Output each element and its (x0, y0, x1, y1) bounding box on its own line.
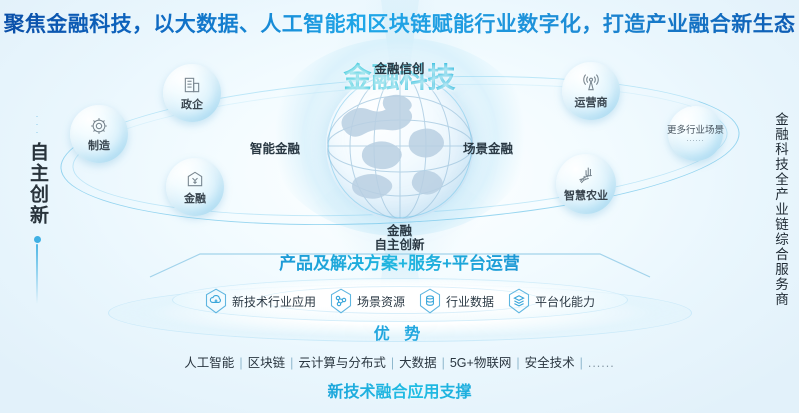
globe-label-left: 智能金融 (250, 138, 300, 157)
capability-item-new-tech-application[interactable]: 新技术行业应用 (204, 288, 316, 314)
node-label: 更多行业场景 (667, 125, 724, 136)
advantage-label: 优 势 (0, 320, 799, 344)
tech-item: 大数据 (399, 356, 437, 370)
node-bubble-manufacturing[interactable]: 制造 (70, 105, 128, 163)
globe-label-top: 金融信创 (0, 58, 799, 77)
network-hex-icon (329, 288, 353, 314)
dot: · (20, 128, 54, 136)
capability-label: 平台化能力 (535, 293, 595, 310)
decorative-dots: · · · (20, 112, 54, 136)
separator: | (442, 356, 445, 370)
node-label: 制造 (88, 137, 110, 153)
tech-item: 人工智能 (184, 356, 234, 370)
building-icon (182, 75, 202, 95)
tech-item: 云计算与分布式 (298, 356, 386, 370)
tech-list: 人工智能|区块链|云计算与分布式|大数据|5G+物联网|安全技术|...... (0, 352, 799, 371)
node-label: 运营商 (575, 94, 608, 110)
node-label: 金融 (184, 190, 206, 206)
agriculture-icon (576, 165, 597, 186)
node-label: 政企 (181, 96, 203, 112)
bottom-title: 新技术融合应用支撑 (0, 378, 799, 402)
capability-item-industry-data[interactable]: 行业数据 (418, 288, 494, 314)
globe-label-right: 场景金融 (463, 138, 513, 157)
left-vertical-text: 自主创新 (20, 142, 54, 232)
capability-label: 场景资源 (357, 293, 405, 310)
bank-icon (185, 169, 205, 189)
capability-item-platform-capability[interactable]: 平台化能力 (507, 288, 595, 314)
right-vertical-text: 金融科技全产业链综合服务商 (759, 112, 789, 307)
page-title: 聚焦金融科技，以大数据、人工智能和区块链赋能行业数字化，打造产业融合新生态 (0, 8, 799, 38)
separator: | (239, 356, 242, 370)
node-label: 智慧农业 (564, 187, 608, 203)
capability-label: 新技术行业应用 (232, 293, 316, 310)
node-bubble-more-scenarios[interactable]: 更多行业场景 ...... (668, 106, 723, 161)
tech-list-ellipsis: ...... (588, 356, 615, 370)
gear-icon (89, 116, 109, 136)
band-main-label: 产品及解决方案+服务+平台运营 (0, 249, 799, 274)
cloud-hex-icon (204, 288, 228, 314)
tech-item: 安全技术 (525, 356, 575, 370)
separator: | (290, 356, 293, 370)
capability-label: 行业数据 (446, 293, 494, 310)
page-title-text: 聚焦金融科技，以大数据、人工智能和区块链赋能行业数字化，打造产业融合新生态 (4, 13, 796, 36)
node-ellipsis: ...... (687, 137, 705, 143)
tech-item: 区块链 (248, 356, 286, 370)
database-hex-icon (418, 288, 442, 314)
layers-hex-icon (507, 288, 531, 314)
tail-line (36, 244, 38, 304)
separator: | (580, 356, 583, 370)
left-vertical-text-value: 自主创新 (26, 142, 48, 226)
tail-dot (34, 236, 41, 243)
left-vertical-block: · · · 自主创新 (20, 112, 54, 304)
node-bubble-finance[interactable]: 金融 (166, 158, 224, 216)
tech-item: 5G+物联网 (450, 356, 511, 370)
node-bubble-smart-agriculture[interactable]: 智慧农业 (556, 154, 616, 214)
separator: | (391, 356, 394, 370)
capability-row: 新技术行业应用 场景资源 行业数据 (0, 288, 799, 314)
separator: | (516, 356, 519, 370)
capability-item-scenario-resources[interactable]: 场景资源 (329, 288, 405, 314)
